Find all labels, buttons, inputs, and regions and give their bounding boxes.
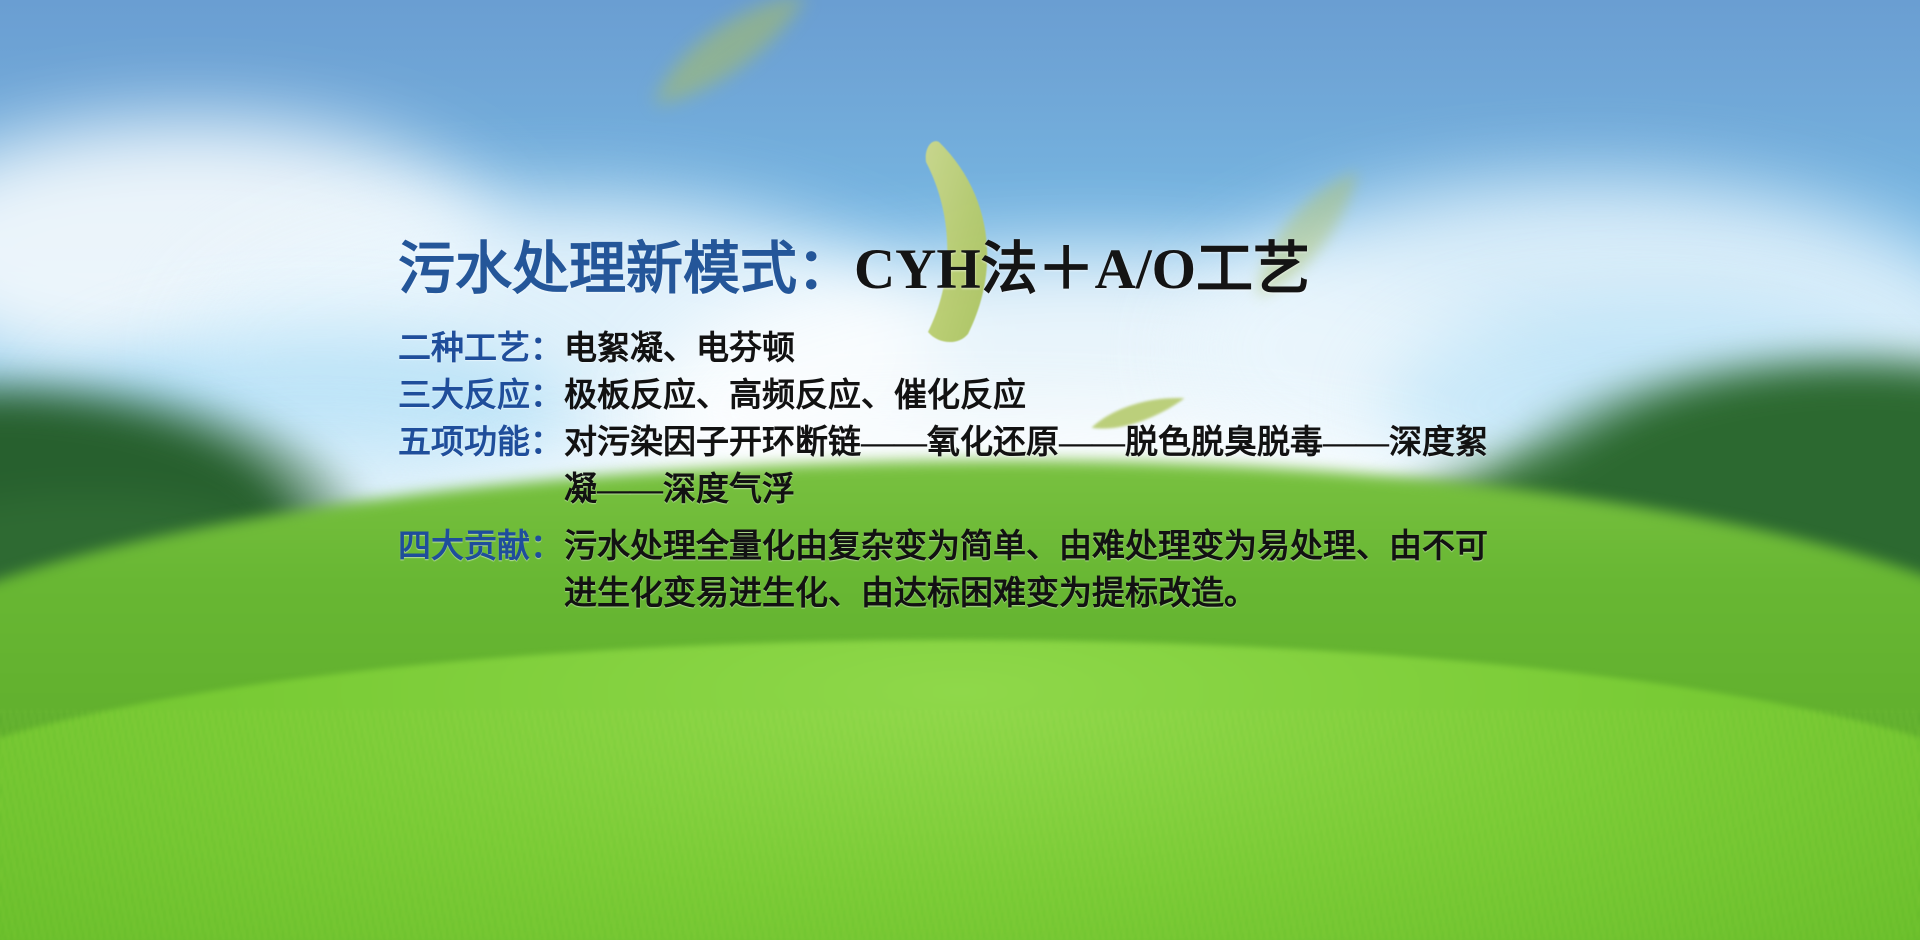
bullet-list: 二种工艺： 电絮凝、电芬顿 三大反应： 极板反应、高频反应、催化反应 五项功能：… [398,326,1518,618]
grass-texture [0,710,1920,940]
title-dark-segment: CYH法＋A/O工艺 [854,238,1310,301]
list-item-label: 三大反应： [398,373,564,420]
list-item-value: 电絮凝、电芬顿 [564,326,1518,373]
title-blue-segment: 污水处理新模式： [398,238,854,301]
list-item-label: 四大贡献： [398,524,564,571]
list-item: 二种工艺： 电絮凝、电芬顿 [398,326,1518,373]
page-title: 污水处理新模式：CYH法＋A/O工艺 [398,238,1518,302]
list-item-label: 二种工艺： [398,326,564,373]
list-item-label: 五项功能： [398,420,564,467]
list-item: 三大反应： 极板反应、高频反应、催化反应 [398,373,1518,420]
text-content: 污水处理新模式：CYH法＋A/O工艺 二种工艺： 电絮凝、电芬顿 三大反应： 极… [398,238,1518,618]
list-item: 五项功能： 对污染因子开环断链——氧化还原——脱色脱臭脱毒——深度絮凝——深度气… [398,420,1518,514]
list-item: 四大贡献： 污水处理全量化由复杂变为简单、由难处理变为易处理、由不可进生化变易进… [398,524,1518,618]
list-item-value: 对污染因子开环断链——氧化还原——脱色脱臭脱毒——深度絮凝——深度气浮 [564,420,1518,514]
list-item-value: 污水处理全量化由复杂变为简单、由难处理变为易处理、由不可进生化变易进生化、由达标… [564,524,1518,618]
list-item-value: 极板反应、高频反应、催化反应 [564,373,1518,420]
slide-canvas: 污水处理新模式：CYH法＋A/O工艺 二种工艺： 电絮凝、电芬顿 三大反应： 极… [0,0,1920,940]
